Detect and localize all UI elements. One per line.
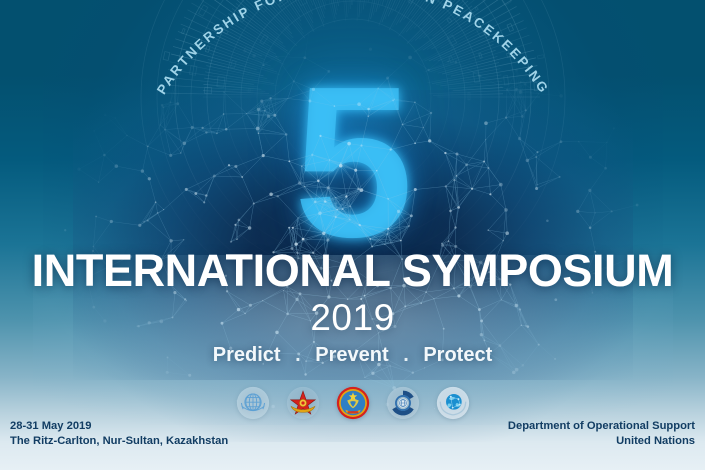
un-globe-emblem <box>436 386 470 420</box>
event-dates: 28-31 May 2019 <box>10 419 228 434</box>
emblem-row <box>0 386 705 420</box>
kazakhstan-state-emblem <box>336 386 370 420</box>
symposium-poster: 5 PART <box>0 0 705 470</box>
united-nations-emblem <box>236 386 270 420</box>
organizer-name: United Nations <box>508 434 695 449</box>
organizer-details: Department of Operational Support United… <box>508 419 695 449</box>
peacekeeping-partnership-emblem <box>386 386 420 420</box>
event-details: 28-31 May 2019 The Ritz-Carlton, Nur-Sul… <box>10 419 228 449</box>
event-venue: The Ritz-Carlton, Nur-Sultan, Kazakhstan <box>10 434 228 449</box>
organizer-department: Department of Operational Support <box>508 419 695 434</box>
kazakhstan-ministry-of-defence-emblem <box>286 386 320 420</box>
